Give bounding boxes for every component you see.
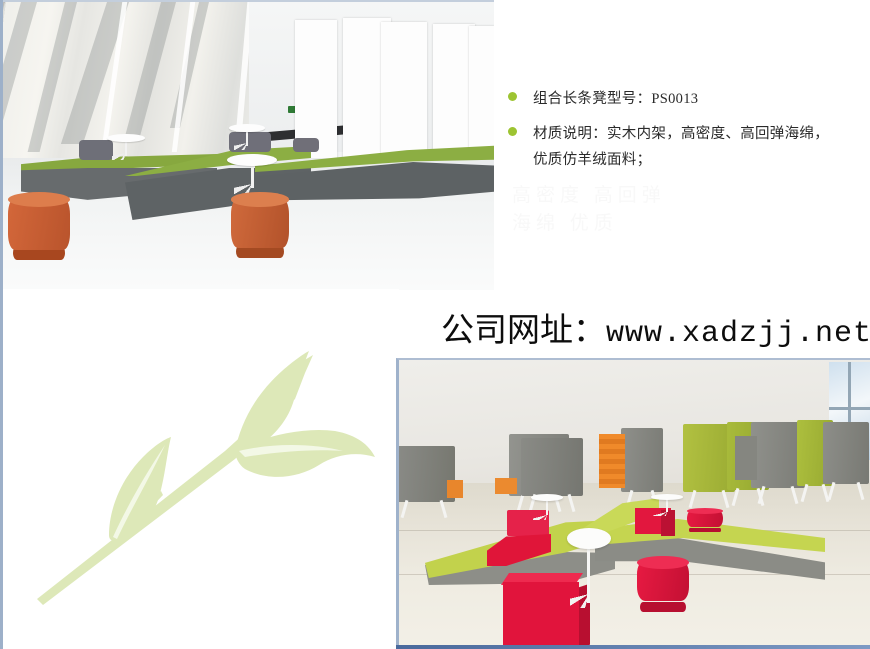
ghost-watermark-text: 高密度 高回弹 海绵 优质: [512, 182, 812, 238]
spec-material-text: 材质说明：实木内架，高密度、高回弹海绵， 优质仿羊绒面料；: [533, 121, 829, 173]
red-drum-stool: [687, 508, 723, 532]
company-website-line: 公司网址：www.xadzjj.net: [441, 303, 870, 351]
bottom-accent-strip: [396, 645, 870, 649]
leaf-graphic-panel: 西安典致家俱有限公司 XI'AN DIANZHI FURNITURE CO.,L…: [0, 289, 399, 649]
website-address[interactable]: www.xadzjj.net: [606, 317, 870, 351]
spec-model-text: 组合长条凳型号：PS0013: [533, 86, 698, 112]
grey-pouf: [293, 138, 319, 152]
side-table-white: [651, 494, 683, 516]
slide-canvas: 组合长条凳型号：PS0013 材质说明：实木内架，高密度、高回弹海绵， 优质仿羊…: [0, 0, 870, 649]
side-table-white: [107, 134, 145, 160]
room-photo: [396, 358, 870, 649]
bullet-dot-icon: [508, 127, 517, 136]
spec-item: 材质说明：实木内架，高密度、高回弹海绵， 优质仿羊绒面料；: [508, 121, 868, 173]
side-table-white: [531, 494, 563, 520]
spec-item: 组合长条凳型号：PS0013: [508, 86, 868, 112]
website-label: 公司网址：: [441, 313, 606, 349]
orange-drum-stool: [231, 192, 289, 258]
left-accent-edge: [0, 0, 3, 649]
branch-with-leaves-icon: [13, 299, 393, 619]
booth-sofa-orange: [621, 428, 663, 492]
orange-drum-stool: [8, 192, 70, 260]
product-spec-list: 组合长条凳型号：PS0013 材质说明：实木内架，高密度、高回弹海绵， 优质仿羊…: [508, 86, 868, 182]
side-table-white: [227, 154, 277, 194]
booth-sofa-grey: [823, 422, 869, 484]
side-table-white: [229, 124, 265, 150]
side-table-white: [567, 528, 611, 608]
booth-sofa-grey: [399, 446, 455, 502]
lobby-photo: [0, 0, 494, 290]
bullet-dot-icon: [508, 92, 517, 101]
booth-sofa-grey: [521, 438, 583, 496]
red-drum-stool: [637, 556, 689, 612]
